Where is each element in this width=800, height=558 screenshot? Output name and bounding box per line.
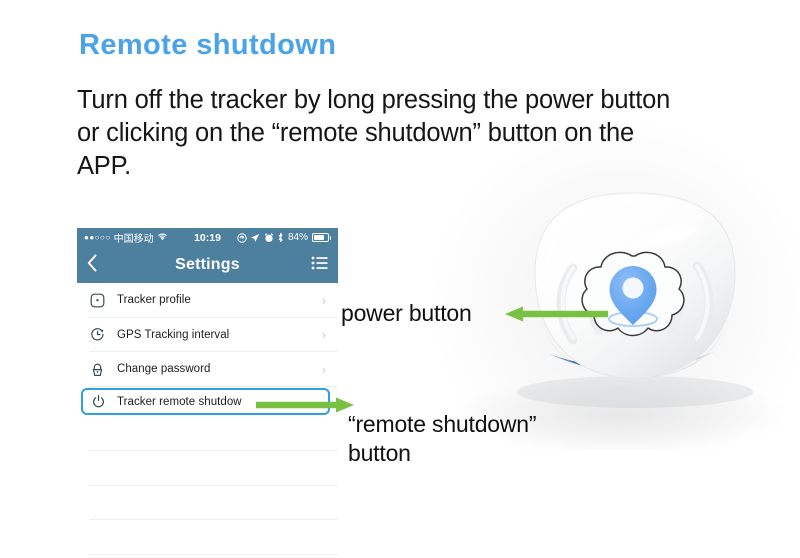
- list-item[interactable]: Change password ›: [77, 352, 338, 387]
- alarm-clock-icon: [264, 233, 274, 243]
- chevron-left-icon[interactable]: [87, 254, 97, 276]
- list-item-label: Change password: [117, 363, 210, 375]
- list-item-empty: [77, 486, 338, 521]
- annotation-power-button: power button: [341, 299, 472, 328]
- clock-interval-icon: [90, 327, 110, 342]
- list-menu-icon[interactable]: [311, 256, 328, 275]
- annotation-remote-shutdown-button: “remote shutdown” button: [348, 410, 598, 468]
- arrow-right-remote-shutdown: [256, 394, 356, 416]
- arrow-left-power-button: [503, 303, 608, 325]
- carrier-label: 中国移动: [114, 230, 154, 245]
- gps-tracker-device: [487, 178, 772, 423]
- signal-dots-icon: ●●○○○: [84, 234, 111, 242]
- chevron-right-icon: ›: [322, 363, 326, 376]
- battery-icon: [312, 233, 332, 242]
- status-bar-left: ●●○○○ 中国移动: [84, 230, 168, 245]
- list-item-label: GPS Tracking interval: [117, 329, 229, 341]
- rotation-lock-icon: [237, 233, 247, 243]
- lock-icon: [90, 362, 110, 377]
- description-paragraph: Turn off the tracker by long pressing th…: [77, 84, 687, 183]
- page-title: Remote shutdown: [79, 29, 336, 62]
- status-bar-right: 84%: [237, 232, 331, 243]
- tracker-profile-icon: [90, 293, 110, 308]
- chevron-right-icon: ›: [322, 328, 326, 341]
- battery-percent-label: 84%: [288, 232, 308, 243]
- bluetooth-icon: [277, 232, 284, 243]
- list-item-empty: [77, 417, 338, 452]
- wifi-icon: [157, 232, 168, 244]
- list-item-empty: [77, 451, 338, 486]
- location-arrow-icon: [250, 233, 260, 243]
- list-item-label: Tracker remote shutdow: [117, 396, 242, 408]
- settings-list: Tracker profile › GPS Tracking interval …: [77, 283, 338, 555]
- nav-title: Settings: [77, 256, 338, 274]
- power-icon: [91, 394, 111, 409]
- status-bar: ●●○○○ 中国移动 10:19 84%: [77, 228, 338, 247]
- phone-screenshot: ●●○○○ 中国移动 10:19 84%: [77, 228, 338, 558]
- nav-bar: Settings: [77, 247, 338, 283]
- chevron-right-icon: ›: [322, 294, 326, 307]
- list-item-label: Tracker profile: [117, 294, 191, 306]
- list-item-empty: [77, 520, 338, 555]
- list-item[interactable]: GPS Tracking interval ›: [77, 318, 338, 353]
- annotation-line-1: “remote shutdown”: [348, 410, 598, 439]
- annotation-line-2: button: [348, 439, 598, 468]
- list-item[interactable]: Tracker profile ›: [77, 283, 338, 318]
